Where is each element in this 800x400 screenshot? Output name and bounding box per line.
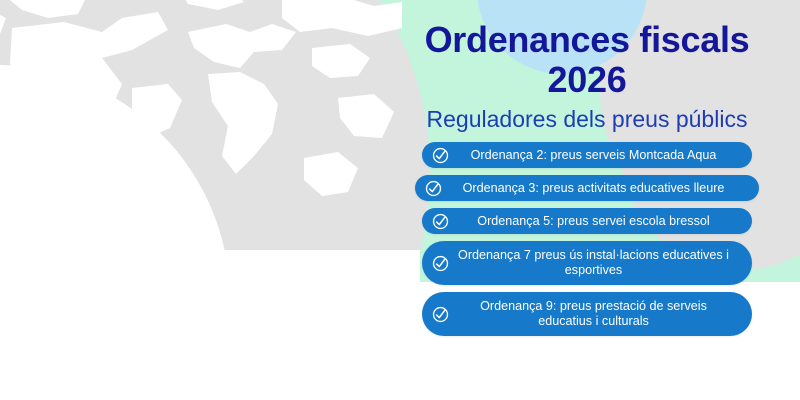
- list-item-label: Ordenança 2: preus serveis Montcada Aqua: [455, 148, 736, 163]
- check-circle-icon: [432, 147, 449, 164]
- svg-text:¥: ¥: [139, 193, 153, 220]
- check-circle-icon: [432, 306, 449, 323]
- ordinance-list: Ordenança 2: preus serveis Montcada Aqua…: [382, 142, 792, 336]
- list-item[interactable]: Ordenança 3: preus activitats educatives…: [415, 175, 759, 201]
- list-item-label: Ordenança 9: preus prestació de serveis …: [455, 299, 736, 329]
- list-item-label: Ordenança 5: preus servei escola bressol: [455, 214, 736, 229]
- poster-canvas: $ ¥ Ordenances fiscals 2026 Reguladores …: [0, 0, 800, 400]
- list-item[interactable]: Ordenança 5: preus servei escola bressol: [422, 208, 752, 234]
- exchange-arrows: [176, 158, 248, 214]
- title-line-1: Ordenances fiscals: [425, 19, 750, 60]
- money-illustration: $ ¥: [0, 0, 370, 260]
- list-item-label: Ordenança 3: preus activitats educatives…: [448, 181, 743, 196]
- page-title: Ordenances fiscals 2026: [382, 8, 792, 100]
- svg-text:$: $: [293, 144, 308, 174]
- list-item[interactable]: Ordenança 7 preus ús instal·lacions educ…: [422, 241, 752, 285]
- white-base-shape: [0, 250, 420, 400]
- title-line-2: 2026: [548, 59, 627, 100]
- check-circle-icon: [432, 255, 449, 272]
- list-item-label: Ordenança 7 preus ús instal·lacions educ…: [455, 248, 736, 278]
- check-circle-icon: [425, 180, 442, 197]
- list-item[interactable]: Ordenança 2: preus serveis Montcada Aqua: [422, 142, 752, 168]
- check-circle-icon: [432, 213, 449, 230]
- content-panel: Ordenances fiscals 2026 Reguladores dels…: [382, 8, 792, 392]
- list-item[interactable]: Ordenança 9: preus prestació de serveis …: [422, 292, 752, 336]
- page-subtitle: Reguladores dels preus públics: [382, 106, 792, 132]
